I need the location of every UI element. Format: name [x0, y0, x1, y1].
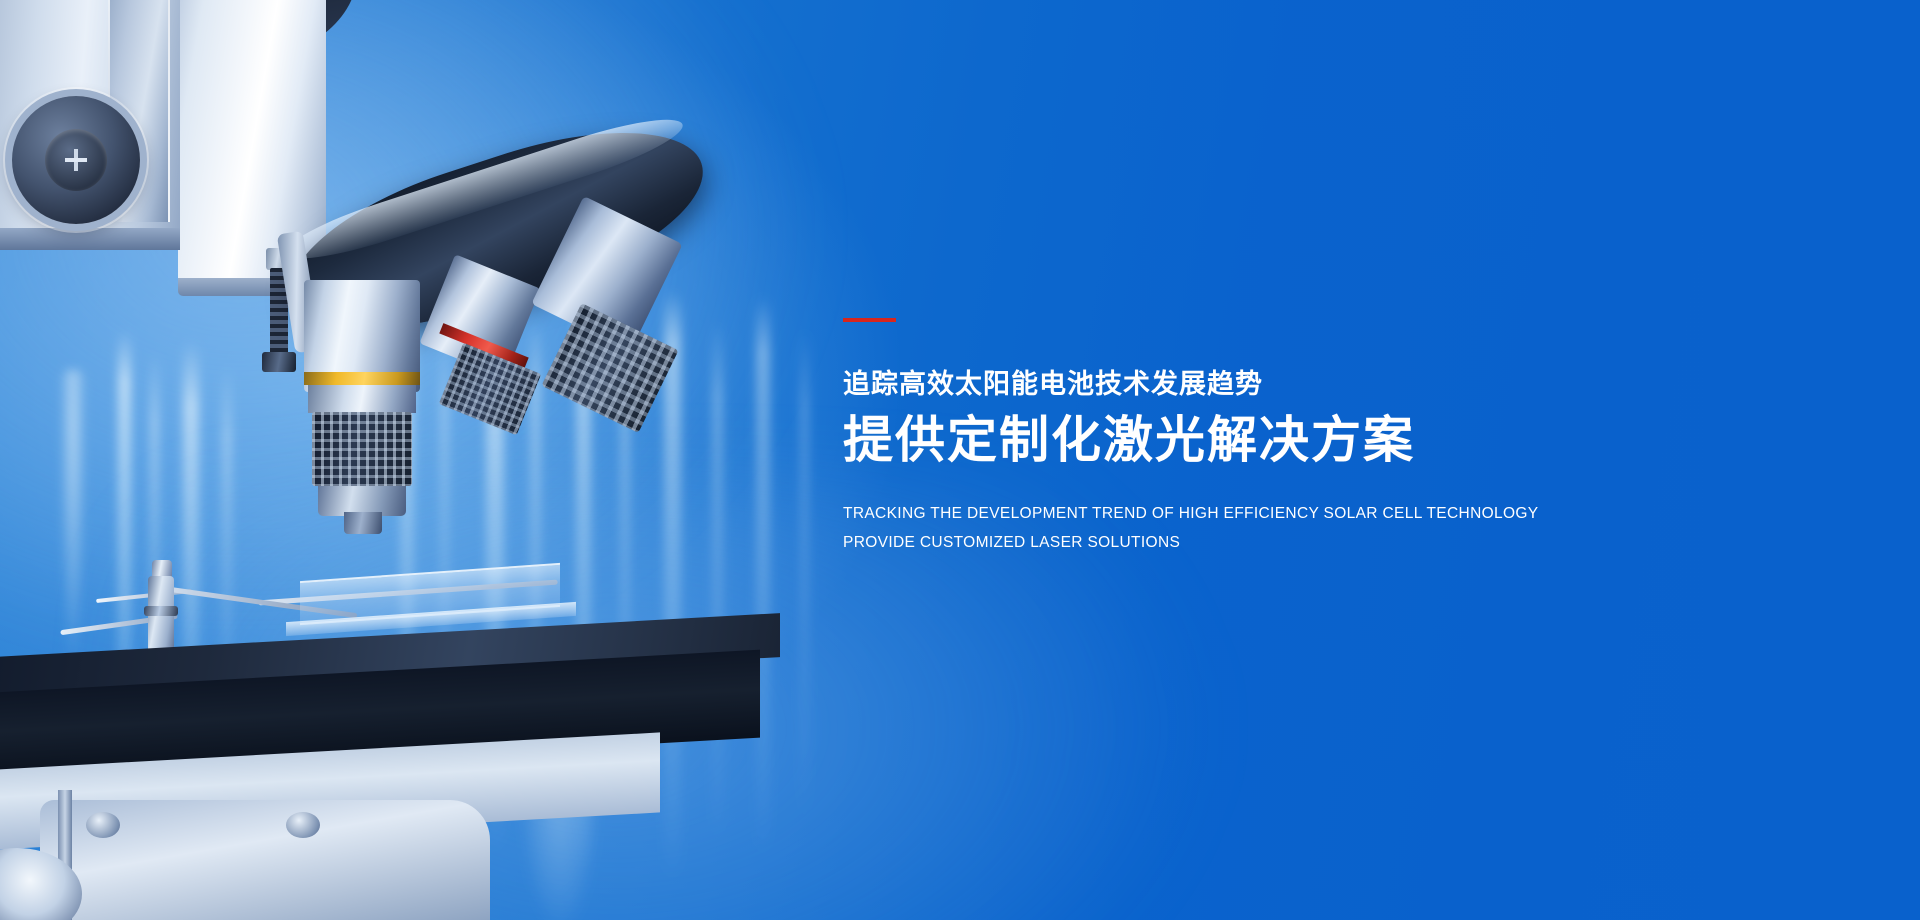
objective-lens-1-knurled-grip	[312, 412, 412, 486]
stage-screw-right	[286, 812, 320, 838]
hero-english-line-1: TRACKING THE DEVELOPMENT TREND OF HIGH E…	[843, 499, 1603, 528]
stage-clip-post-ring	[144, 606, 178, 616]
focus-knob-screw	[65, 149, 87, 171]
microscope-focus-knob	[12, 96, 140, 224]
microscope-set-screw-base	[262, 352, 296, 372]
hero-subheadline-cn: 追踪高效太阳能电池技术发展趋势	[843, 368, 1603, 402]
stage-screw-left	[86, 812, 120, 838]
hero-headline-cn: 提供定制化激光解决方案	[843, 410, 1603, 471]
objective-lens-1-yellow-band	[304, 372, 420, 385]
accent-divider-bar	[843, 318, 896, 322]
microscope-image	[0, 0, 900, 920]
objective-lens-1-tip	[344, 512, 382, 534]
hero-text-block: 追踪高效太阳能电池技术发展趋势 提供定制化激光解决方案 TRACKING THE…	[843, 318, 1603, 557]
hero-banner: 追踪高效太阳能电池技术发展趋势 提供定制化激光解决方案 TRACKING THE…	[0, 0, 1920, 920]
objective-lens-1-collar	[308, 385, 416, 413]
objective-lens-3-knurled-grip	[541, 303, 678, 433]
hero-english-subtitle-group: TRACKING THE DEVELOPMENT TREND OF HIGH E…	[843, 499, 1603, 557]
hero-english-line-2: PROVIDE CUSTOMIZED LASER SOLUTIONS	[843, 528, 1603, 557]
